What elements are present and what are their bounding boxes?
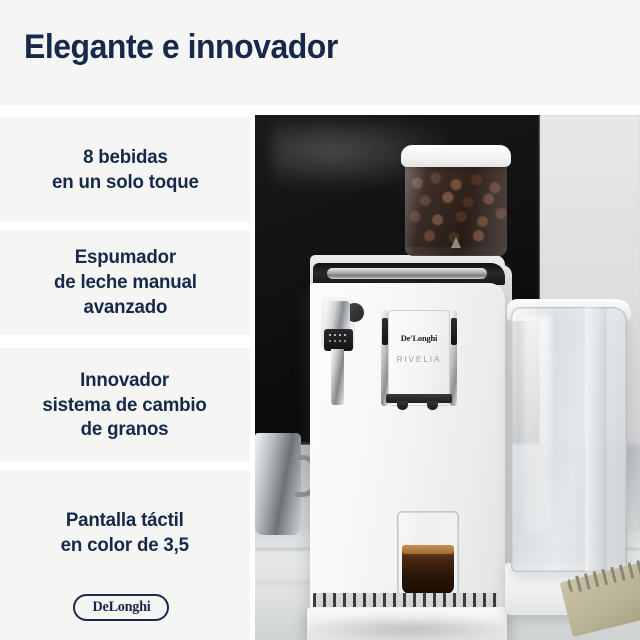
delonghi-logo: DeLonghi [73, 594, 169, 621]
water-tank-highlight [523, 317, 551, 532]
coffee-spout-left [397, 401, 408, 410]
feature-text-bean-system: Innovadorsistema de cambiode granos [35, 368, 215, 443]
frother-upper-tube [326, 301, 350, 331]
espresso-cup [397, 511, 459, 599]
infographic-page: Elegante e innovador 8 bebidasen un solo… [0, 0, 640, 640]
page-title: Elegante e innovador [24, 28, 338, 67]
dispenser-base [386, 394, 452, 403]
water-tank-stripe [585, 307, 607, 572]
espresso-liquid [402, 548, 454, 594]
header-banner: Elegante e innovador [0, 0, 640, 105]
machine-model-label: RIVELIA [388, 355, 450, 364]
machine-shadow [295, 615, 525, 640]
dispenser-rail-grip-right [451, 318, 457, 345]
water-tank [511, 307, 627, 572]
feature-list: 8 bebidasen un solo toque Espumadorde le… [0, 117, 250, 640]
feature-text-touchscreen: Pantalla táctilen color de 3,5 [53, 508, 197, 558]
bean-hopper-lid [401, 145, 511, 167]
frother-adjust-collar [324, 329, 353, 351]
product-photo: De'Longhi RIVELIA [255, 115, 640, 640]
feature-block-beverages: 8 bebidasen un solo toque [0, 117, 250, 222]
machine-chrome-trim [327, 268, 487, 279]
coffee-spout-right [427, 401, 438, 410]
feature-text-beverages: 8 bebidasen un solo toque [44, 145, 206, 195]
feature-block-bean-system: Innovadorsistema de cambiode granos [0, 348, 250, 462]
feature-text-milk-frother: Espumadorde leche manualavanzado [46, 245, 204, 320]
delonghi-logo-text: DeLonghi [92, 599, 150, 616]
espresso-crema [402, 545, 454, 554]
machine-brand-label: De'Longhi [388, 333, 450, 343]
frother-wand [331, 349, 344, 405]
feature-block-milk-frother: Espumadorde leche manualavanzado [0, 230, 250, 335]
